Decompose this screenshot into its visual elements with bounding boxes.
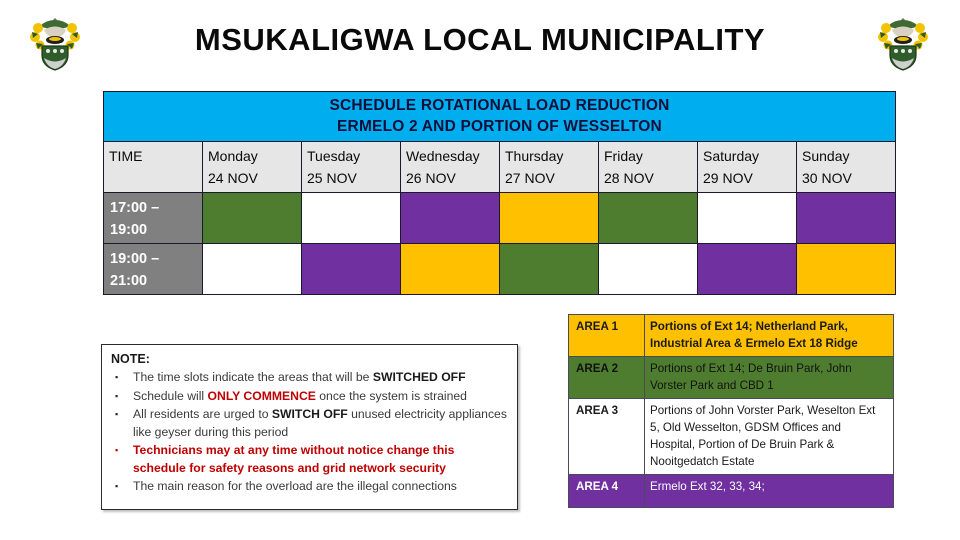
time-slot-from: 19:00 – — [110, 248, 202, 270]
day-date: 30 NOV — [802, 167, 895, 189]
area-label: AREA 2 — [569, 357, 645, 399]
note-item: ▪Schedule will ONLY COMMENCE once the sy… — [111, 388, 509, 406]
schedule-slot-cell-purple — [797, 193, 896, 244]
schedule-slot-cell-orange — [401, 244, 500, 295]
page-title: MSUKALIGWA LOCAL MUNICIPALITY — [130, 22, 830, 58]
schedule-slot-row: 19:00 – 21:00 — [104, 244, 896, 295]
load-reduction-schedule-table: SCHEDULE ROTATIONAL LOAD REDUCTION ERMEL… — [103, 91, 896, 295]
bullet-square-icon: ▪ — [111, 369, 133, 387]
schedule-banner-row: SCHEDULE ROTATIONAL LOAD REDUCTION ERMEL… — [104, 92, 896, 142]
time-column-header: TIME — [104, 142, 203, 193]
schedule-banner-line-2: ERMELO 2 AND PORTION OF WESSELTON — [104, 116, 895, 137]
day-name: Monday — [208, 145, 301, 167]
bullet-square-icon: ▪ — [111, 442, 133, 460]
area-label: AREA 3 — [569, 399, 645, 475]
schedule-banner-cell: SCHEDULE ROTATIONAL LOAD REDUCTION ERMEL… — [104, 92, 896, 142]
schedule-slot-cell-green — [500, 244, 599, 295]
time-slot-to: 21:00 — [110, 270, 202, 292]
schedule-slot-cell-green — [203, 193, 302, 244]
day-date: 26 NOV — [406, 167, 499, 189]
bullet-square-icon: ▪ — [111, 406, 133, 424]
schedule-slot-cell-white — [599, 244, 698, 295]
day-column-header: Wednesday26 NOV — [401, 142, 500, 193]
day-column-header: Saturday29 NOV — [698, 142, 797, 193]
area-description-text: Portions of Ext 14; De Bruin Park, John … — [650, 362, 852, 392]
bullet-square-icon: ▪ — [111, 478, 133, 496]
schedule-slot-cell-green — [599, 193, 698, 244]
municipality-coat-of-arms-left-icon — [24, 12, 86, 74]
note-title: NOTE: — [111, 352, 509, 366]
note-item-text: The main reason for the overload are the… — [133, 478, 509, 496]
note-item: ▪All residents are urged to SWITCH OFF u… — [111, 406, 509, 441]
schedule-banner-line-1: SCHEDULE ROTATIONAL LOAD REDUCTION — [104, 95, 895, 116]
day-column-header: Sunday30 NOV — [797, 142, 896, 193]
area-label: AREA 1 — [569, 315, 645, 357]
schedule-header-row: TIME Monday24 NOVTuesday25 NOVWednesday2… — [104, 142, 896, 193]
day-name: Saturday — [703, 145, 796, 167]
schedule-slot-cell-orange — [500, 193, 599, 244]
schedule-slot-cell-purple — [698, 244, 797, 295]
area-legend-row: AREA 3Portions of John Vorster Park, Wes… — [569, 399, 894, 475]
area-description: Portions of John Vorster Park, Weselton … — [645, 399, 894, 475]
area-description-text: Ermelo Ext 32, 33, 34; — [650, 480, 765, 493]
time-slot-from: 17:00 – — [110, 197, 202, 219]
bullet-square-icon: ▪ — [111, 388, 133, 406]
day-column-header: Tuesday25 NOV — [302, 142, 401, 193]
schedule-slot-cell-white — [698, 193, 797, 244]
area-description: Portions of Ext 14; De Bruin Park, John … — [645, 357, 894, 399]
area-description-text: Portions of Ext 14; Netherland Park, Ind… — [650, 320, 858, 350]
note-item: ▪The time slots indicate the areas that … — [111, 369, 509, 387]
municipality-coat-of-arms-right-icon — [872, 12, 934, 74]
area-legend-row: AREA 2Portions of Ext 14; De Bruin Park,… — [569, 357, 894, 399]
note-item-text: Schedule will ONLY COMMENCE once the sys… — [133, 388, 509, 406]
area-legend-row: AREA 1Portions of Ext 14; Netherland Par… — [569, 315, 894, 357]
time-slot-label: 17:00 – 19:00 — [104, 193, 203, 244]
schedule-slot-cell-white — [302, 193, 401, 244]
area-description: Ermelo Ext 32, 33, 34; — [645, 475, 894, 508]
note-item-text: Technicians may at any time without noti… — [133, 442, 509, 477]
area-description: Portions of Ext 14; Netherland Park, Ind… — [645, 315, 894, 357]
schedule-slot-cell-orange — [797, 244, 896, 295]
note-item: ▪The main reason for the overload are th… — [111, 478, 509, 496]
schedule-slot-cell-purple — [401, 193, 500, 244]
area-legend-row: AREA 4Ermelo Ext 32, 33, 34; — [569, 475, 894, 508]
day-column-header: Thursday27 NOV — [500, 142, 599, 193]
day-name: Friday — [604, 145, 697, 167]
day-date: 28 NOV — [604, 167, 697, 189]
time-slot-label: 19:00 – 21:00 — [104, 244, 203, 295]
schedule-slot-row: 17:00 – 19:00 — [104, 193, 896, 244]
note-item-text: All residents are urged to SWITCH OFF un… — [133, 406, 509, 441]
day-column-header: Friday28 NOV — [599, 142, 698, 193]
day-date: 29 NOV — [703, 167, 796, 189]
note-list: ▪The time slots indicate the areas that … — [111, 369, 509, 496]
area-legend-table: AREA 1Portions of Ext 14; Netherland Par… — [568, 314, 894, 508]
day-name: Thursday — [505, 145, 598, 167]
note-item: ▪Technicians may at any time without not… — [111, 442, 509, 477]
day-name: Sunday — [802, 145, 895, 167]
schedule-slot-cell-purple — [302, 244, 401, 295]
time-slot-to: 19:00 — [110, 219, 202, 241]
slide-canvas: MSUKALIGWA LOCAL MUNICIPALITY SCHEDULE R… — [0, 0, 960, 540]
day-column-header: Monday24 NOV — [203, 142, 302, 193]
schedule-slot-cell-white — [203, 244, 302, 295]
day-date: 25 NOV — [307, 167, 400, 189]
area-label: AREA 4 — [569, 475, 645, 508]
note-box: NOTE: ▪The time slots indicate the areas… — [101, 344, 518, 510]
day-date: 27 NOV — [505, 167, 598, 189]
day-date: 24 NOV — [208, 167, 301, 189]
day-name: Tuesday — [307, 145, 400, 167]
area-description-text: Portions of John Vorster Park, Weselton … — [650, 404, 875, 468]
day-name: Wednesday — [406, 145, 499, 167]
note-item-text: The time slots indicate the areas that w… — [133, 369, 509, 387]
